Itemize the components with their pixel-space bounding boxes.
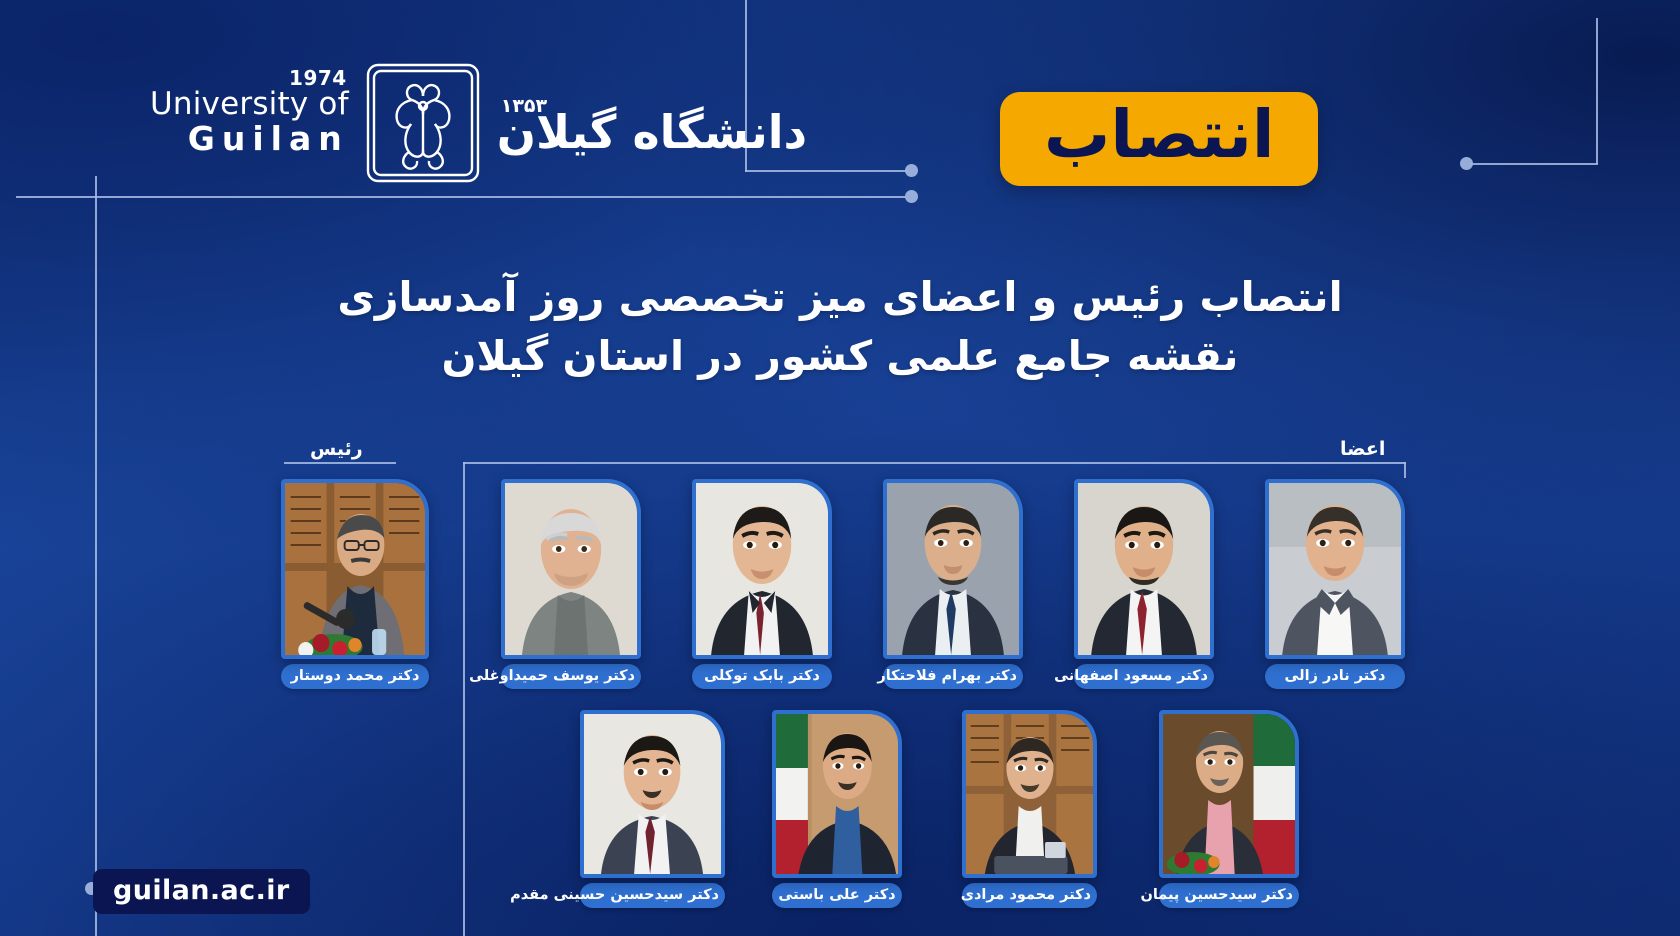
decor-dot-1 (905, 164, 918, 177)
decor-hline-left (16, 196, 906, 198)
appointment-badge: انتصاب (1000, 92, 1318, 186)
portrait-bahram-falahatkar (887, 483, 1019, 655)
member-card-7: دکتر علی باستی (772, 710, 902, 908)
member-photo-frame-2 (692, 479, 832, 659)
member-card-9: دکتر سیدحسین پیمان (1159, 710, 1299, 908)
member-photo-frame-3 (883, 479, 1023, 659)
logo-year-en: 1974 (289, 66, 347, 90)
member-name-label-3: دکتر بهرام فلاحتکار (883, 664, 1023, 689)
member-name-label-9: دکتر سیدحسین پیمان (1159, 883, 1299, 908)
logo-persian-text: ۱۳۵۳ دانشگاه گیلان (497, 89, 807, 158)
portrait-yousef-hamidoghli (505, 483, 637, 655)
members-section-caption: اعضا (1340, 438, 1385, 460)
chair-card: دکتر محمد دوستار (281, 479, 429, 689)
members-bracket-hline (463, 462, 1406, 464)
chair-name-label: دکتر محمد دوستار (281, 664, 429, 689)
member-name-label-5: دکتر نادر زالی (1265, 664, 1405, 689)
member-photo-frame-7 (772, 710, 902, 878)
portrait-babak-tavakoli (696, 483, 828, 655)
chair-bracket-hline (284, 462, 396, 464)
member-name-label-7: دکتر علی باستی (772, 883, 902, 908)
member-name-label-4: دکتر مسعود اصفهانی (1074, 664, 1214, 689)
members-bracket-vline (463, 462, 465, 936)
member-photo-frame-8 (962, 710, 1097, 878)
portrait-seyed-hossein-peyman (1163, 714, 1295, 874)
decor-vline-right (1596, 18, 1598, 164)
member-name-label-6: دکتر سیدحسین حسینی مقدم (580, 883, 725, 908)
appointment-badge-label: انتصاب (1044, 102, 1274, 168)
logo-university-word: University of (150, 88, 349, 121)
decor-dot-3 (1460, 157, 1473, 170)
member-name-label-1: دکتر یوسف حمیداوغلی (501, 664, 641, 689)
member-photo-frame-5 (1265, 479, 1405, 659)
decor-hline-right (1470, 163, 1598, 165)
member-card-6: دکتر سیدحسین حسینی مقدم (580, 710, 725, 908)
member-card-4: دکتر مسعود اصفهانی (1074, 479, 1214, 689)
page-title-line-1: انتصاب رئیس و اعضای میز تخصصی روز آمدساز… (0, 268, 1680, 327)
chair-photo-frame (281, 479, 429, 659)
member-photo-frame-4 (1074, 479, 1214, 659)
portrait-ali-basti (776, 714, 898, 874)
members-bracket-right-tick (1404, 462, 1406, 478)
member-card-3: دکتر بهرام فلاحتکار (883, 479, 1023, 689)
member-photo-frame-1 (501, 479, 641, 659)
member-name-label-8: دکتر محمود مرادی (962, 883, 1097, 908)
member-name-label-2: دکتر بابک توکلی (692, 664, 832, 689)
member-photo-frame-9 (1159, 710, 1299, 878)
website-pill[interactable]: guilan.ac.ir (93, 869, 310, 914)
logo-english-text: 1974 University of Guilan (150, 88, 349, 158)
portrait-nader-zali (1269, 483, 1401, 655)
decor-dot-2 (905, 190, 918, 203)
logo-guilan-word: Guilan (188, 120, 349, 158)
guilan-peacock-emblem-icon (365, 62, 481, 184)
member-card-8: دکتر محمود مرادی (962, 710, 1097, 908)
page-title-line-2: نقشه جامع علمی کشور در استان گیلان (0, 327, 1680, 386)
member-card-5: دکتر نادر زالی (1265, 479, 1405, 689)
poster-canvas: 1974 University of Guilan ۱۳۵۳ دانشگاه گ… (0, 0, 1680, 936)
member-photo-frame-6 (580, 710, 725, 878)
portrait-mahmoud-moradi (966, 714, 1093, 874)
logo-year-fa: ۱۳۵۳ (501, 95, 547, 117)
portrait-seyed-hossein-hosseini-moghaddam (584, 714, 721, 874)
portrait-masoud-esfahani (1078, 483, 1210, 655)
page-title: انتصاب رئیس و اعضای میز تخصصی روز آمدساز… (0, 268, 1680, 387)
portrait-mohammad-doostar (285, 483, 425, 655)
website-label: guilan.ac.ir (113, 875, 290, 906)
chair-section-caption: رئیس (310, 438, 363, 460)
university-logo: 1974 University of Guilan ۱۳۵۳ دانشگاه گ… (150, 62, 807, 184)
member-card-2: دکتر بابک توکلی (692, 479, 832, 689)
member-card-1: دکتر یوسف حمیداوغلی (501, 479, 641, 689)
